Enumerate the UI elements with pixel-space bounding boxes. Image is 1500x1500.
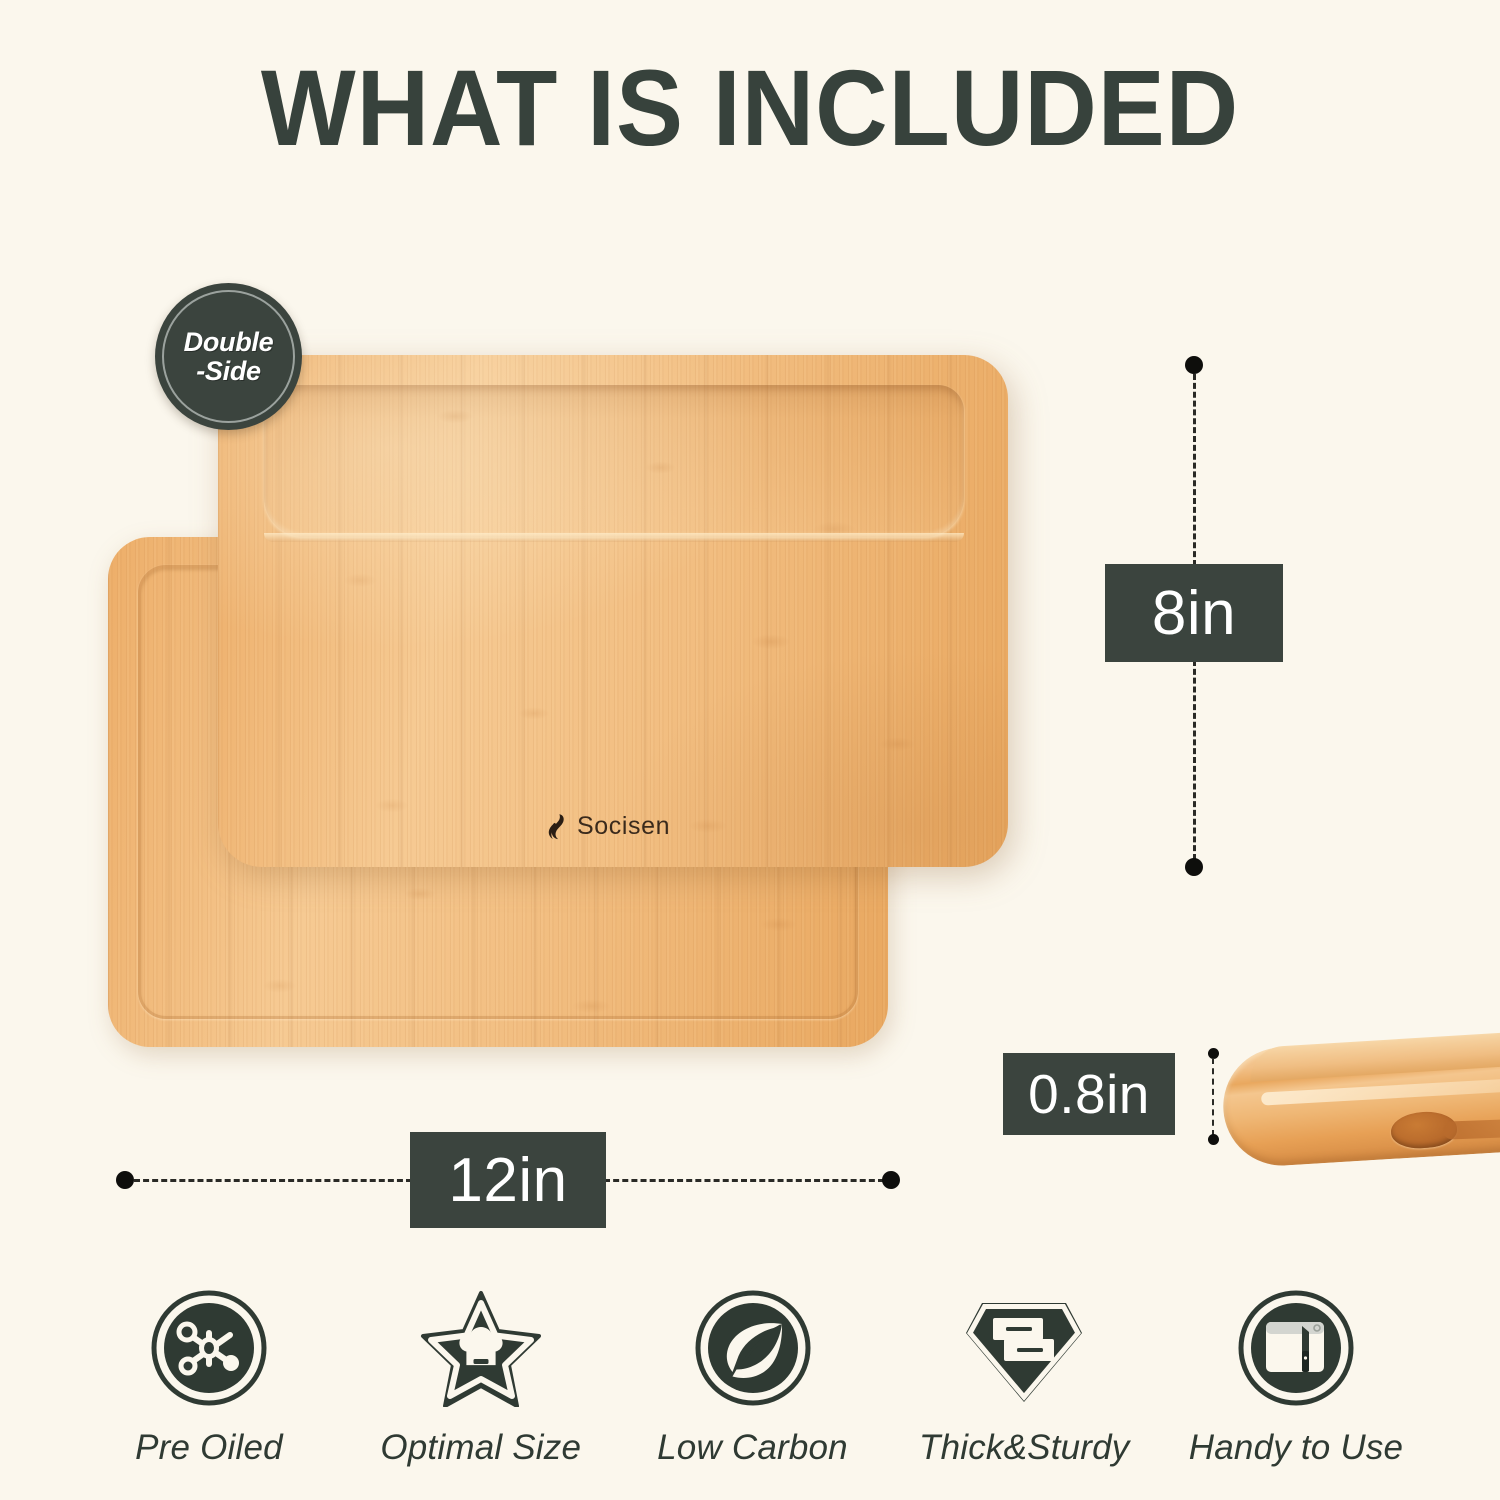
feature-pre-oiled: Pre Oiled [80, 1288, 338, 1468]
page-title: WHAT IS INCLUDED [53, 54, 1448, 162]
feature-optimal-size: Optimal Size [352, 1288, 610, 1468]
width-dim-left-dot [116, 1171, 134, 1189]
board-edge-closeup [1215, 1030, 1500, 1190]
height-dim-line-upper [1193, 374, 1196, 566]
width-dim-line-right [604, 1179, 884, 1182]
brand-logo: Socisen [546, 812, 670, 841]
thickness-dim-line [1212, 1058, 1214, 1136]
board-and-knife-icon [1237, 1288, 1355, 1408]
thickness-dimension-label: 0.8in [1003, 1053, 1175, 1135]
height-dim-line-lower [1193, 660, 1196, 860]
feature-handy-to-use: Handy to Use [1167, 1288, 1425, 1468]
double-side-badge-text: Double -Side [184, 328, 274, 386]
feature-low-carbon: Low Carbon [624, 1288, 882, 1468]
feature-strip: Pre Oiled Optimal Size [80, 1288, 1425, 1468]
double-side-badge: Double -Side [155, 283, 302, 430]
feature-label: Low Carbon [657, 1428, 848, 1468]
feature-thick-sturdy: Thick&Sturdy [895, 1288, 1153, 1468]
infographic-canvas: WHAT IS INCLUDED Socisen Double -Side 8i… [0, 0, 1500, 1500]
feature-label: Pre Oiled [135, 1428, 283, 1468]
front-cutting-board [218, 355, 1008, 867]
height-dim-bottom-dot [1185, 858, 1203, 876]
stacked-slabs-icon [962, 1288, 1086, 1408]
width-dim-right-dot [882, 1171, 900, 1189]
badge-line-2: -Side [184, 357, 274, 386]
height-dimension-label: 8in [1105, 564, 1283, 662]
width-dim-line-left [134, 1179, 412, 1182]
front-board-juice-well [264, 385, 964, 537]
width-dimension-label: 12in [410, 1132, 606, 1228]
flame-logo-icon [546, 813, 568, 841]
oil-molecule-icon [150, 1288, 268, 1408]
chef-hat-star-icon [419, 1288, 543, 1408]
brand-name: Socisen [577, 812, 670, 841]
front-board-well-lip [264, 533, 964, 542]
feature-label: Handy to Use [1189, 1428, 1403, 1468]
feature-label: Optimal Size [380, 1428, 581, 1468]
feature-label: Thick&Sturdy [919, 1428, 1130, 1468]
badge-line-1: Double [184, 328, 274, 357]
height-dim-top-dot [1185, 356, 1203, 374]
leaf-icon [694, 1288, 812, 1408]
